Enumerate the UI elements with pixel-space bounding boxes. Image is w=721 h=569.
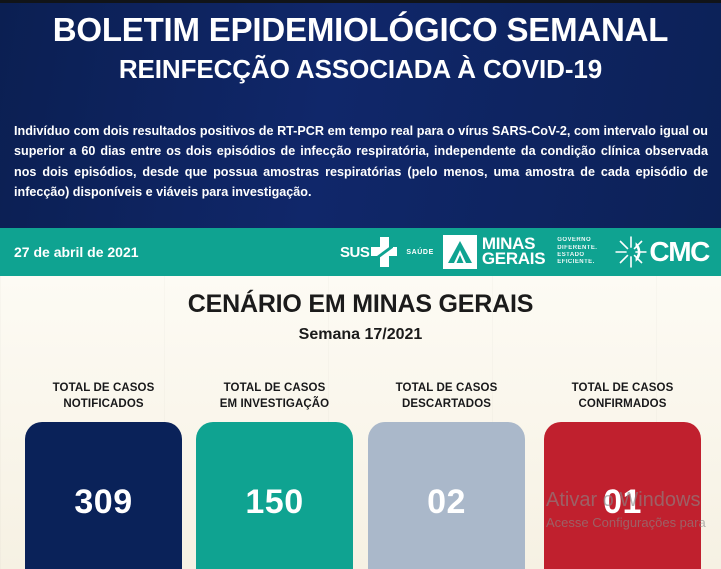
mg-tagline: GOVERNO DIFERENTE. ESTADO EFICIENTE. <box>557 237 597 266</box>
stat-card-box: 02 <box>368 422 525 569</box>
stat-card-value: 150 <box>245 483 303 522</box>
stat-card-label: TOTAL DE CASOS CONFIRMADOS <box>544 381 701 417</box>
stat-card-box: 01 <box>544 422 701 569</box>
stat-card-value: 01 <box>603 483 642 522</box>
virus-compass-icon <box>614 235 648 269</box>
stat-label-line1: TOTAL DE CASOS <box>368 381 525 397</box>
stat-card-descartados: TOTAL DE CASOS DESCARTADOS 02 <box>368 381 525 569</box>
mg-tagline-2: DIFERENTE. <box>557 245 597 252</box>
minas-gerais-wordmark: MINAS GERAIS <box>482 237 545 266</box>
mg-tagline-3: ESTADO <box>557 252 597 259</box>
scenario-title: CENÁRIO EM MINAS GERAIS <box>0 290 721 319</box>
stat-card-confirmados: TOTAL DE CASOS CONFIRMADOS 01 <box>544 381 701 569</box>
definition-text: Indivíduo com dois resultados positivos … <box>14 121 708 203</box>
stat-card-box: 309 <box>25 422 182 569</box>
stat-card-label: TOTAL DE CASOS NOTIFICADOS <box>25 381 182 417</box>
header-titles: BOLETIM EPIDEMIOLÓGICO SEMANAL REINFECÇÃ… <box>0 3 721 85</box>
mg-line-2: GERAIS <box>482 252 545 267</box>
stat-label-line2: CONFIRMADOS <box>544 397 701 413</box>
scenario-week: Semana 17/2021 <box>0 326 721 344</box>
mountain-mark-icon <box>443 235 477 269</box>
health-cross-icon <box>371 237 397 267</box>
stat-card-box: 150 <box>196 422 353 569</box>
mg-tagline-1: GOVERNO <box>557 237 597 244</box>
minas-gerais-logo: MINAS GERAIS GOVERNO DIFERENTE. ESTADO E… <box>443 235 598 269</box>
bulletin-page: BOLETIM EPIDEMIOLÓGICO SEMANAL REINFECÇÃ… <box>0 0 721 569</box>
cross-slash-shape <box>376 244 393 260</box>
logo-group: SUS SAÚDE MINAS GERAIS <box>340 228 713 276</box>
header-banner: BOLETIM EPIDEMIOLÓGICO SEMANAL REINFECÇÃ… <box>0 3 721 228</box>
page-title: BOLETIM EPIDEMIOLÓGICO SEMANAL <box>0 12 721 49</box>
stat-card-em-investigacao: TOTAL DE CASOS EM INVESTIGAÇÃO 150 <box>196 381 353 569</box>
sus-logo-label: SUS <box>340 244 369 261</box>
stat-label-line2: DESCARTADOS <box>368 397 525 413</box>
content-area: CENÁRIO EM MINAS GERAIS Semana 17/2021 T… <box>0 276 721 569</box>
stat-card-notificados: TOTAL DE CASOS NOTIFICADOS 309 <box>25 381 182 569</box>
stat-label-line1: TOTAL DE CASOS <box>544 381 701 397</box>
stat-label-line1: TOTAL DE CASOS <box>196 381 353 397</box>
stat-label-line1: TOTAL DE CASOS <box>25 381 182 397</box>
stat-cards: TOTAL DE CASOS NOTIFICADOS 309 TOTAL DE … <box>0 381 721 569</box>
stat-card-value: 309 <box>74 483 132 522</box>
sus-logo: SUS <box>340 237 397 267</box>
logo-band: 27 de abril de 2021 SUS SAÚDE <box>0 228 721 276</box>
cmc-logo: CMC <box>614 235 709 269</box>
stat-label-line2: NOTIFICADOS <box>25 397 182 413</box>
stat-label-line2: EM INVESTIGAÇÃO <box>196 397 353 413</box>
stat-card-value: 02 <box>427 483 466 522</box>
mg-tagline-4: EFICIENTE. <box>557 259 597 266</box>
saude-label: SAÚDE <box>406 249 434 256</box>
cmc-logo-label: CMC <box>649 236 709 268</box>
publication-date: 27 de abril de 2021 <box>14 244 139 260</box>
stat-card-label: TOTAL DE CASOS DESCARTADOS <box>368 381 525 417</box>
stat-card-label: TOTAL DE CASOS EM INVESTIGAÇÃO <box>196 381 353 417</box>
page-subtitle: REINFECÇÃO ASSOCIADA À COVID-19 <box>0 54 721 85</box>
